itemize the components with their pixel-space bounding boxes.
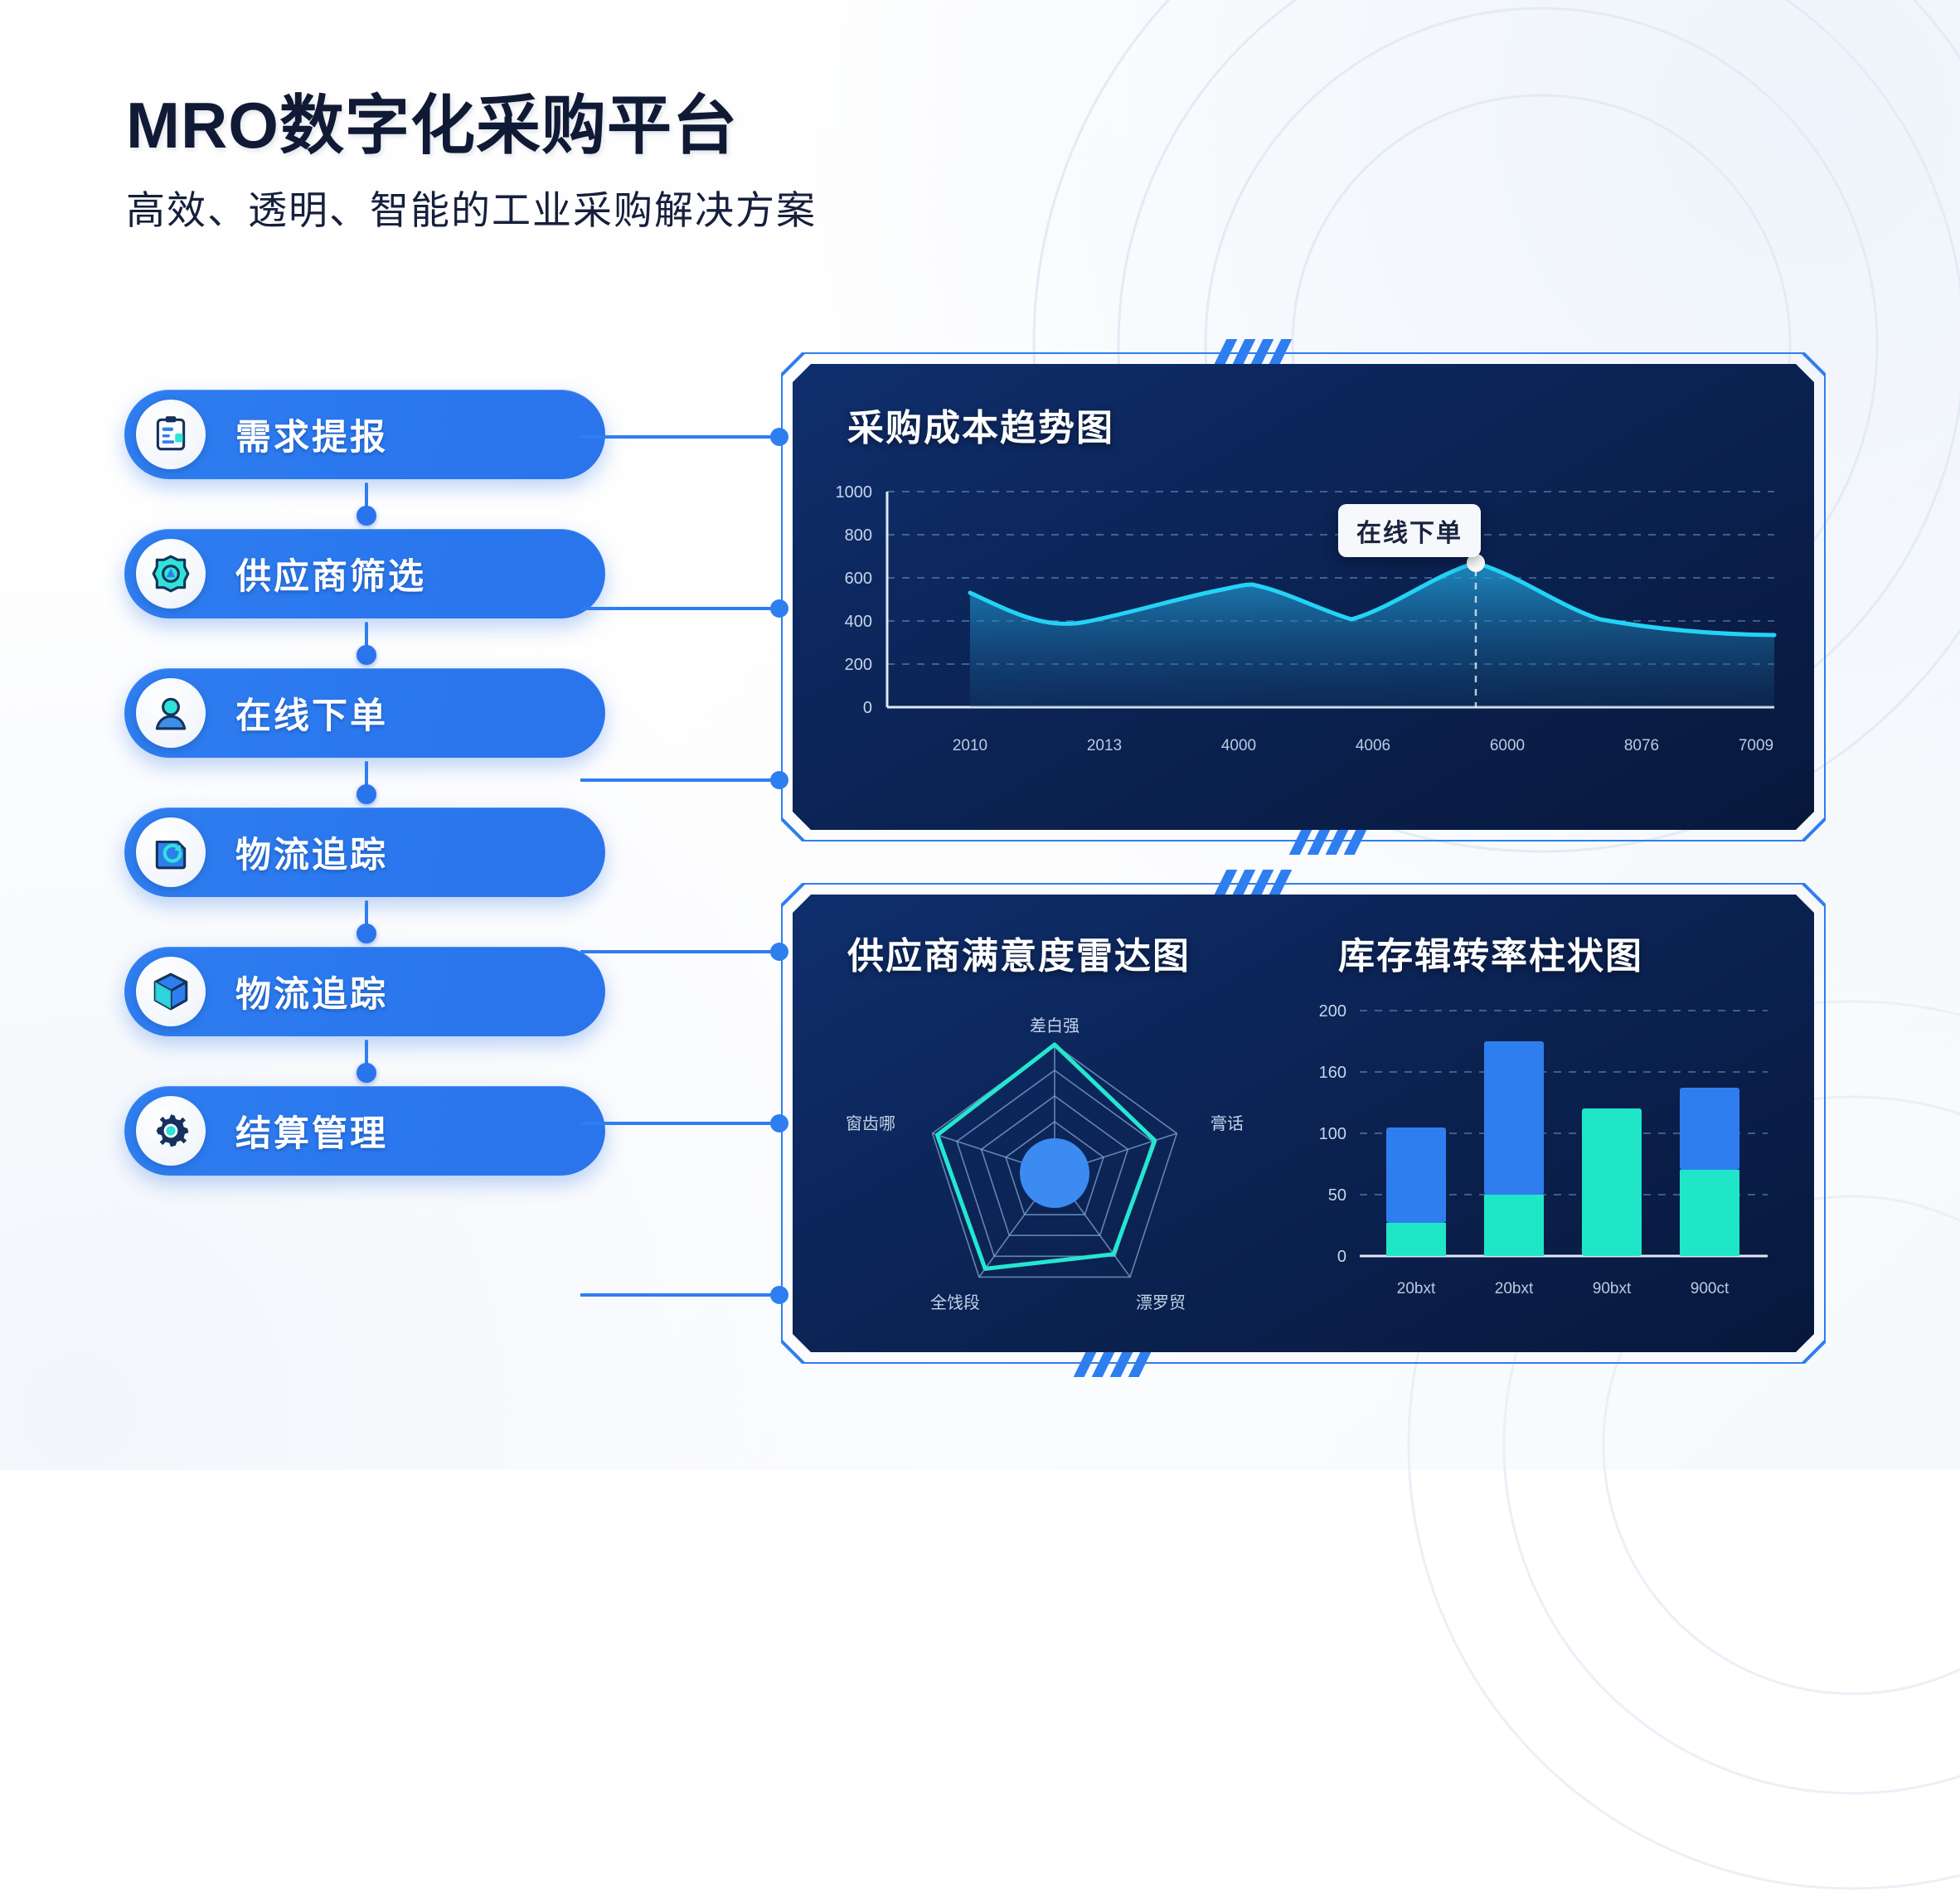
process-flow-list: 需求提报 供应商筛选 在线下单 [124,390,622,1176]
cost-trend-area-chart: 1000 800 600 400 200 0 [821,477,1783,783]
flow-step-label: 供应商筛选 [235,548,426,599]
svg-text:4000: 4000 [1221,737,1256,754]
panel-stripes-top-2 [1220,870,1286,895]
page-header: MRO数字化采购平台 高效、透明、智能的工业采购解决方案 [126,91,817,235]
panel-stripes-bottom-2 [1079,1352,1145,1377]
inventory-turnover-bar-chart: 200 160 100 50 0 20 [1295,995,1776,1326]
svg-text:6000: 6000 [1490,737,1525,754]
flow-step-settlement-management[interactable]: 结算管理 [124,1086,605,1176]
flow-step-label: 结算管理 [235,1105,388,1157]
page-title: MRO数字化采购平台 [126,91,817,160]
package-track-icon [136,817,206,887]
svg-text:0: 0 [1337,1248,1346,1266]
analytics-panel-frame: 供应商满意度雷达图 库存辑转率柱状图 [781,883,1826,1364]
svg-text:800: 800 [845,526,872,545]
svg-text:900ct: 900ct [1691,1280,1730,1297]
flow-step-online-ordering[interactable]: 在线下单 [124,668,605,758]
flow-connector [124,1036,605,1086]
svg-text:全饯段: 全饯段 [930,1293,980,1312]
tooltip-label: 在线下单 [1356,520,1463,547]
svg-text:200: 200 [845,656,872,674]
svg-text:100: 100 [1319,1125,1346,1143]
svg-text:20bxt: 20bxt [1495,1280,1534,1297]
flow-step-label: 物流追踪 [235,966,388,1017]
trend-panel-title: 采购成本趋势图 [847,398,1114,451]
svg-text:2010: 2010 [953,737,987,754]
svg-text:90bxt: 90bxt [1593,1280,1632,1297]
supplier-satisfaction-radar-chart: 差白强 膏话 漂罗贸 全饯段 窗齿哪 [814,995,1295,1326]
svg-text:0: 0 [863,699,872,717]
badge-gear-icon [136,539,206,609]
cube-box-icon [136,957,206,1026]
svg-text:600: 600 [845,570,872,588]
flow-step-label: 需求提报 [235,409,388,460]
flow-step-label: 物流追踪 [235,827,388,878]
svg-text:50: 50 [1328,1186,1346,1205]
svg-text:7009: 7009 [1739,737,1773,754]
svg-text:窗齿哪: 窗齿哪 [846,1114,895,1133]
flow-step-logistics-tracking[interactable]: 物流追踪 [124,807,605,897]
svg-text:20bxt: 20bxt [1397,1280,1436,1297]
flow-step-label: 在线下单 [235,687,388,739]
panel-stripes-top [1220,339,1286,364]
bars-panel-title: 库存辑转率柱状图 [1338,926,1643,979]
flow-connector [124,897,605,947]
user-order-icon [136,678,206,748]
svg-text:4006: 4006 [1356,737,1390,754]
trend-panel-frame: 采购成本趋势图 1000 800 600 400 200 0 [781,352,1826,841]
flow-connector [124,618,605,668]
flow-step-demand-submission[interactable]: 需求提报 [124,390,605,479]
panel-stripes-bottom [1295,830,1361,855]
svg-text:200: 200 [1319,1002,1346,1021]
svg-text:膏话: 膏话 [1210,1114,1244,1133]
svg-text:漂罗贸: 漂罗贸 [1136,1293,1186,1312]
flow-step-logistics-tracking-2[interactable]: 物流追踪 [124,947,605,1036]
svg-text:8076: 8076 [1624,737,1659,754]
settings-gear-icon [136,1096,206,1166]
svg-text:2013: 2013 [1087,737,1122,754]
flow-connector [124,479,605,529]
page-subtitle: 高效、透明、智能的工业采购解决方案 [126,178,817,235]
svg-text:160: 160 [1319,1064,1346,1082]
flow-step-supplier-screening[interactable]: 供应商筛选 [124,529,605,618]
chart-tooltip-online-order: 在线下单 [1338,504,1481,557]
radar-panel-title: 供应商满意度雷达图 [847,926,1191,979]
svg-text:400: 400 [845,613,872,631]
clipboard-form-icon [136,400,206,469]
flow-connector [124,758,605,807]
svg-text:差白强: 差白强 [1030,1016,1079,1035]
svg-text:1000: 1000 [836,483,873,502]
